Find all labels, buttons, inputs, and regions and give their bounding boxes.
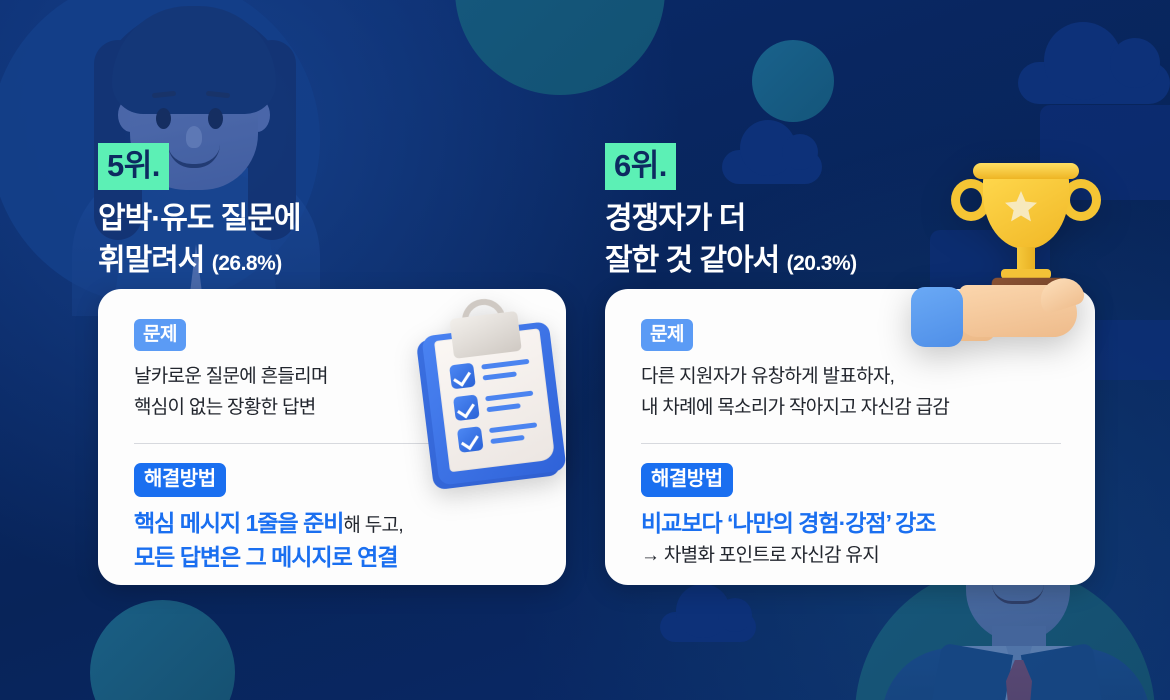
solution-body-6: 해결방법 비교보다 ‘나만의 경험·강점’ 강조 → 차별화 포인트로 자신감 …: [641, 463, 1061, 571]
hand-illustration: [913, 277, 1103, 347]
rank-badge-5: 5위.: [98, 143, 169, 190]
cloud-icon-bottom: [660, 612, 756, 642]
rank-5-headline-line1: 압박·유도 질문에: [98, 200, 568, 238]
rank-badge-6: 6위.: [605, 143, 676, 190]
problem-tag-6: 문제: [641, 319, 693, 351]
card-divider-6: [641, 443, 1061, 444]
solution-sub-6: → 차별화 포인트로 자신감 유지: [641, 542, 1061, 571]
solution-sub-highlight: 모든 답변은 그 메시지로 연결: [134, 544, 397, 570]
solution-main-6: 비교보다 ‘나만의 경험·강점’ 강조: [641, 506, 1061, 541]
solution-tail: 해 두고,: [343, 515, 403, 536]
rank-5-headline-text: 휘말려서: [98, 244, 204, 277]
rank-5-percent: (26.8%): [212, 252, 282, 275]
decorative-circle-top-right: [752, 40, 834, 122]
problem-line: 내 차례에 목소리가 작아지고 자신감 급감: [641, 393, 1061, 424]
solution-tag-5: 해결방법: [134, 463, 226, 497]
rank-5-headline-line2: 휘말려서 (26.8%): [98, 242, 568, 280]
clipboard-checklist-icon: [414, 310, 580, 497]
solution-highlight: 비교보다 ‘나만의 경험·강점’ 강조: [641, 510, 935, 536]
trophy-stem: [1017, 247, 1035, 271]
problem-tag-5: 문제: [134, 319, 186, 351]
cloud-icon-top-right: [1018, 62, 1170, 104]
problem-body-6: 다른 지원자가 유창하게 발표하자, 내 차례에 목소리가 작아지고 자신감 급…: [641, 362, 1061, 424]
trophy-rim: [973, 163, 1079, 179]
solution-highlight: 핵심 메시지 1줄을 준비: [134, 510, 343, 536]
solution-main-5: 핵심 메시지 1줄을 준비해 두고,: [134, 506, 532, 541]
rank-6-percent: (20.3%): [787, 252, 857, 275]
trophy-in-hand-icon: [905, 155, 1155, 355]
rank-6-headline-text: 잘한 것 같아서: [605, 244, 779, 277]
rank-5-header: 5위. 압박·유도 질문에 휘말려서 (26.8%): [98, 143, 568, 281]
problem-line: 다른 지원자가 유창하게 발표하자,: [641, 362, 1061, 393]
solution-tag-6: 해결방법: [641, 463, 733, 497]
solution-sub-5: 모든 답변은 그 메시지로 연결: [134, 540, 532, 575]
